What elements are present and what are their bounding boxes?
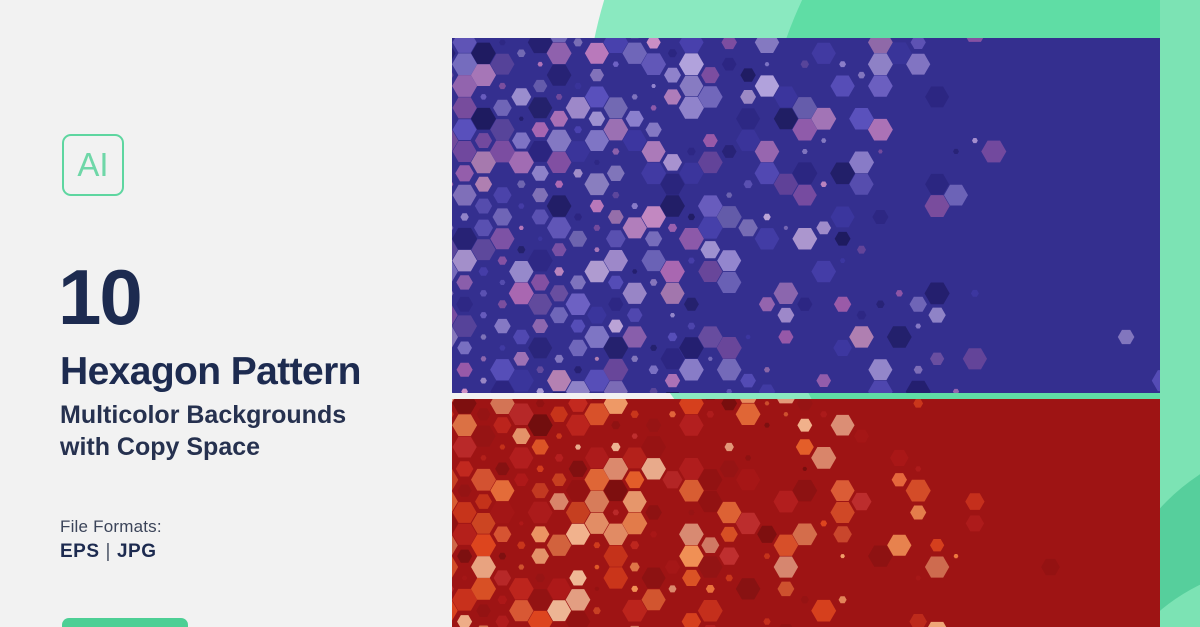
preview-blue-hexagon-pattern[interactable] [452, 38, 1160, 393]
file-format-separator: | [100, 541, 117, 562]
hexagon-svg-blue [452, 38, 1160, 393]
ai-format-badge: AI [62, 134, 124, 196]
item-count: 10 [58, 258, 141, 336]
poster-canvas: AI 10 Hexagon Pattern Multicolor Backgro… [0, 0, 1200, 627]
page-subtitle: Multicolor Backgrounds with Copy Space [60, 399, 440, 463]
file-formats-label: File Formats: [60, 517, 162, 537]
preview-red-hexagon-pattern[interactable] [452, 399, 1160, 627]
ai-badge-label: AI [77, 148, 108, 181]
hexagon-svg-red [452, 399, 1160, 627]
file-format-jpg: JPG [117, 541, 157, 562]
page-subtitle-line-2: with Copy Space [60, 431, 440, 463]
cta-button[interactable] [62, 618, 188, 627]
page-subtitle-line-1: Multicolor Backgrounds [60, 399, 440, 431]
file-formats-values: EPS|JPG [60, 541, 157, 563]
page-title: Hexagon Pattern [60, 352, 361, 393]
file-format-eps: EPS [60, 541, 100, 562]
info-column: AI 10 Hexagon Pattern Multicolor Backgro… [0, 0, 452, 627]
